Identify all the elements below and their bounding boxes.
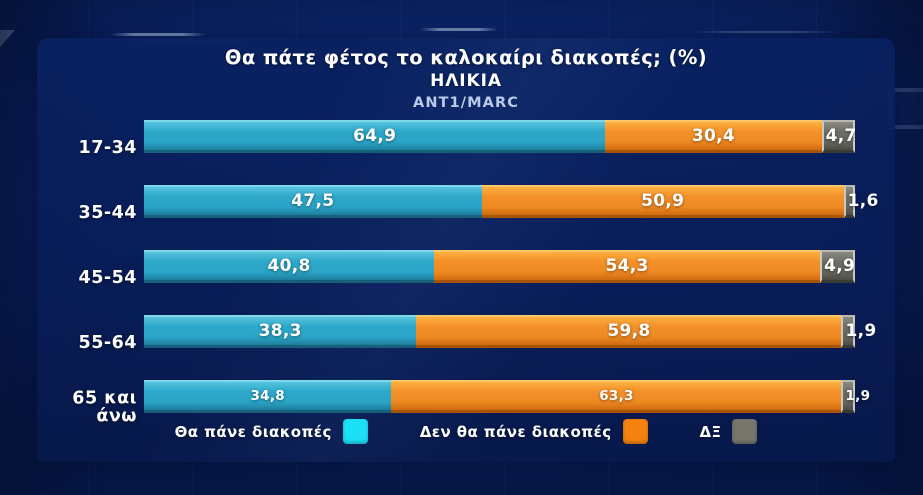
bar-segment-θα-πάνε-διακοπές: 40,8 [144, 250, 434, 283]
chart-legend: Θα πάνε διακοπέςΔεν θα πάνε διακοπέςΔΞ [37, 419, 895, 444]
legend-item-dont-know: ΔΞ [700, 419, 758, 444]
title-block: Θα πάτε φέτος το καλοκαίρι διακοπές; (%)… [37, 47, 895, 111]
bar-value-label: 38,3 [259, 321, 302, 341]
row-category-label: 17-34 [37, 138, 137, 156]
bar-segment-δξ: 1,9 [841, 315, 855, 348]
chart-row: 17-3464,930,44,7 [37, 115, 895, 180]
stacked-bar: 40,854,34,9 [144, 250, 855, 283]
bar-value-label: 1,9 [845, 388, 870, 404]
bar-segment-δξ: 1,6 [844, 185, 855, 218]
bar-value-label: 4,9 [824, 256, 855, 276]
legend-swatch [623, 419, 648, 444]
legend-label: Δεν θα πάνε διακοπές [420, 423, 612, 441]
row-category-label: 55-64 [37, 333, 137, 351]
legend-label: Θα πάνε διακοπές [175, 423, 332, 441]
legend-swatch [732, 419, 757, 444]
bar-segment-θα-πάνε-διακοπές: 47,5 [144, 185, 482, 218]
row-category-label: 45-54 [37, 268, 137, 286]
bar-value-label: 1,9 [845, 321, 876, 341]
bar-segment-δεν-θα-πάνε-διακοπές: 59,8 [416, 315, 841, 348]
chart-rows: 17-3464,930,44,735-4447,550,91,645-5440,… [37, 115, 895, 440]
stacked-bar: 64,930,44,7 [144, 120, 855, 153]
bar-value-label: 1,6 [848, 191, 879, 211]
bar-value-label: 34,8 [250, 388, 285, 404]
bar-value-label: 50,9 [641, 191, 684, 211]
bar-value-label: 40,8 [267, 256, 310, 276]
bar-value-label: 59,8 [607, 321, 650, 341]
source-label: ANT1/MARC [37, 95, 895, 111]
bar-segment-δεν-θα-πάνε-διακοπές: 63,3 [391, 380, 841, 413]
bar-value-label: 64,9 [353, 126, 396, 146]
bar-segment-θα-πάνε-διακοπές: 64,9 [144, 120, 605, 153]
chart-row: 55-6438,359,81,9 [37, 310, 895, 375]
bar-value-label: 47,5 [291, 191, 334, 211]
bar-segment-δεν-θα-πάνε-διακοπές: 54,3 [434, 250, 820, 283]
chart-panel: Θα πάτε φέτος το καλοκαίρι διακοπές; (%)… [37, 38, 895, 462]
bar-value-label: 54,3 [606, 256, 649, 276]
stacked-bar: 38,359,81,9 [144, 315, 855, 348]
bar-segment-δξ: 4,9 [820, 250, 855, 283]
stacked-bar: 34,863,31,9 [144, 380, 855, 413]
legend-label: ΔΞ [700, 423, 722, 441]
bar-value-label: 63,3 [599, 388, 634, 404]
chart-row: 35-4447,550,91,6 [37, 180, 895, 245]
bar-segment-δξ: 1,9 [841, 380, 855, 413]
legend-item-will-not-go: Δεν θα πάνε διακοπές [420, 419, 648, 444]
bar-value-label: 4,7 [826, 126, 857, 146]
bar-segment-θα-πάνε-διακοπές: 38,3 [144, 315, 416, 348]
row-category-label: 35-44 [37, 203, 137, 221]
bar-segment-δεν-θα-πάνε-διακοπές: 50,9 [482, 185, 844, 218]
bar-value-label: 30,4 [692, 126, 735, 146]
bar-segment-δεν-θα-πάνε-διακοπές: 30,4 [605, 120, 821, 153]
stacked-bar: 47,550,91,6 [144, 185, 855, 218]
breakdown-title: ΗΛΙΚΙΑ [37, 70, 895, 92]
bar-segment-δξ: 4,7 [822, 120, 855, 153]
legend-item-will-go: Θα πάνε διακοπές [175, 419, 368, 444]
legend-swatch [343, 419, 368, 444]
bar-segment-θα-πάνε-διακοπές: 34,8 [144, 380, 391, 413]
page-title: Θα πάτε φέτος το καλοκαίρι διακοπές; (%) [37, 47, 895, 69]
chart-row: 45-5440,854,34,9 [37, 245, 895, 310]
poll-graphic: Θα πάτε φέτος το καλοκαίρι διακοπές; (%)… [0, 0, 923, 495]
